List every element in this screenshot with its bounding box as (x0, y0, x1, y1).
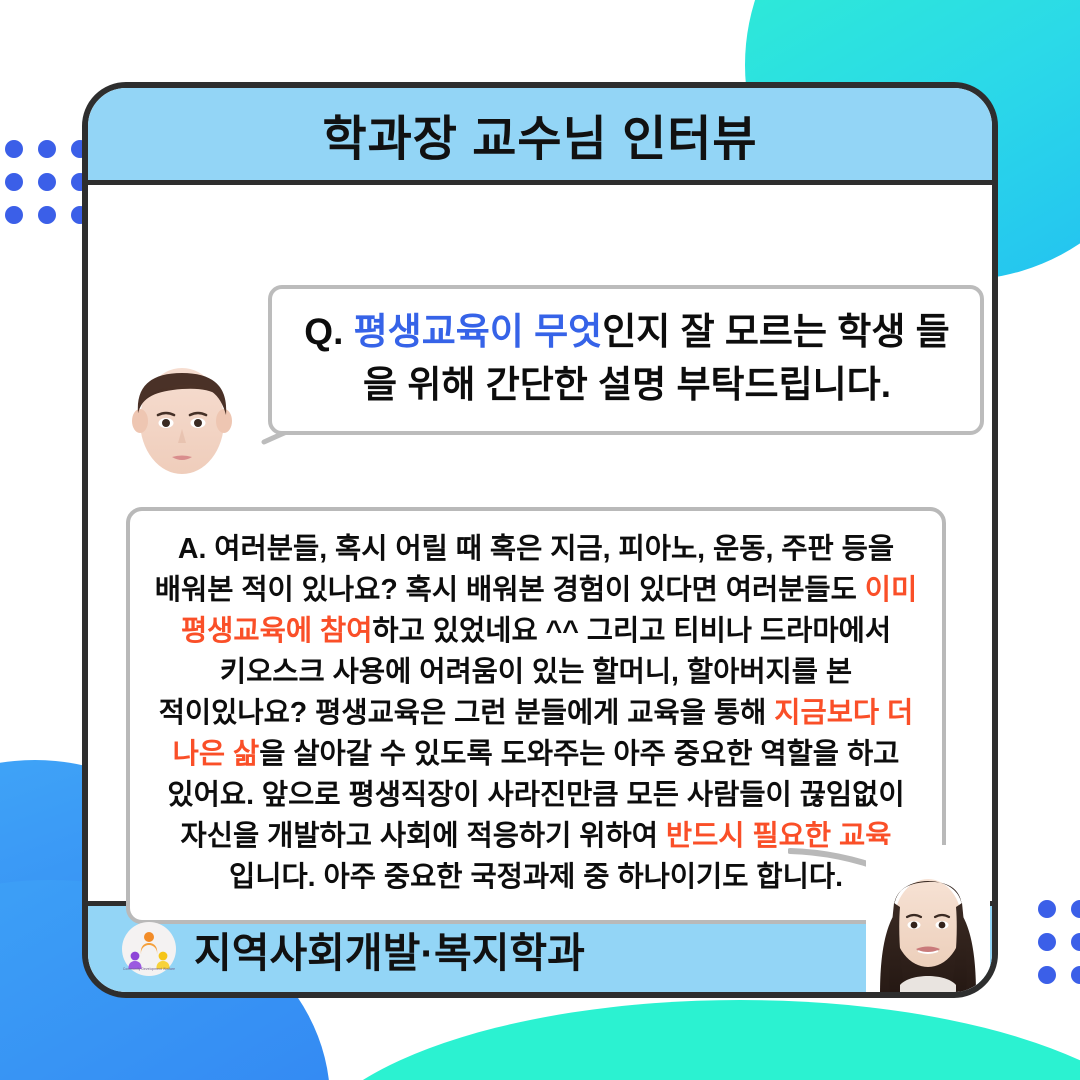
decorative-dot-grid-bottom-right (1038, 900, 1080, 984)
answer-highlight-3: 반드시 필요한 교육 (666, 820, 892, 852)
professor-portrait (866, 845, 990, 998)
dot (5, 173, 23, 191)
student-portrait (116, 333, 248, 483)
question-highlight: 평생교육이 무엇 (354, 311, 603, 352)
decorative-blob-green-bottom (300, 1000, 1080, 1080)
logo-caption: Community Development Welfare (122, 968, 176, 971)
decorative-dot-grid-left (5, 140, 89, 224)
dot (1038, 933, 1056, 951)
slide-canvas: 학과장 교수님 인터뷰 Q. 평생교육이 무엇인지 잘 모르는 학생 들을 위해… (0, 0, 1080, 1080)
dot (1071, 900, 1080, 918)
dot (5, 140, 23, 158)
dot (38, 173, 56, 191)
interview-card: 학과장 교수님 인터뷰 Q. 평생교육이 무엇인지 잘 모르는 학생 들을 위해… (82, 82, 998, 998)
answer-bubble: A. 여러분들, 혹시 어릴 때 혹은 지금, 피아노, 운동, 주판 등을 배… (126, 507, 946, 924)
dot (5, 206, 23, 224)
question-rest-line1: 인지 잘 모르는 학생 (602, 311, 905, 352)
department-name: 지역사회개발·복지학과 (194, 919, 585, 979)
logo-figures-icon (126, 926, 172, 972)
answer-segment-4: 입니다. 아주 중요한 국정과제 중 하나이기도 합니다. (229, 861, 843, 893)
answer-segment-1: A. 여러분들, 혹시 어릴 때 혹은 지금, 피아노, 운동, 주판 등을 배… (155, 533, 894, 606)
dot (1071, 933, 1080, 951)
dot (1038, 900, 1056, 918)
answer-text: A. 여러분들, 혹시 어릴 때 혹은 지금, 피아노, 운동, 주판 등을 배… (148, 529, 924, 898)
question-prefix: Q. (304, 311, 343, 352)
department-logo-icon: Community Development Welfare (122, 922, 176, 976)
question-bubble: Q. 평생교육이 무엇인지 잘 모르는 학생 들을 위해 간단한 설명 부탁드립… (268, 285, 984, 435)
dot (1038, 966, 1056, 984)
card-header: 학과장 교수님 인터뷰 (88, 88, 992, 185)
dot (38, 206, 56, 224)
dot (38, 140, 56, 158)
card-body: Q. 평생교육이 무엇인지 잘 모르는 학생 들을 위해 간단한 설명 부탁드립… (88, 185, 992, 901)
page-title: 학과장 교수님 인터뷰 (322, 99, 757, 169)
dot (1071, 966, 1080, 984)
question-text: Q. 평생교육이 무엇인지 잘 모르는 학생 들을 위해 간단한 설명 부탁드립… (294, 306, 960, 411)
